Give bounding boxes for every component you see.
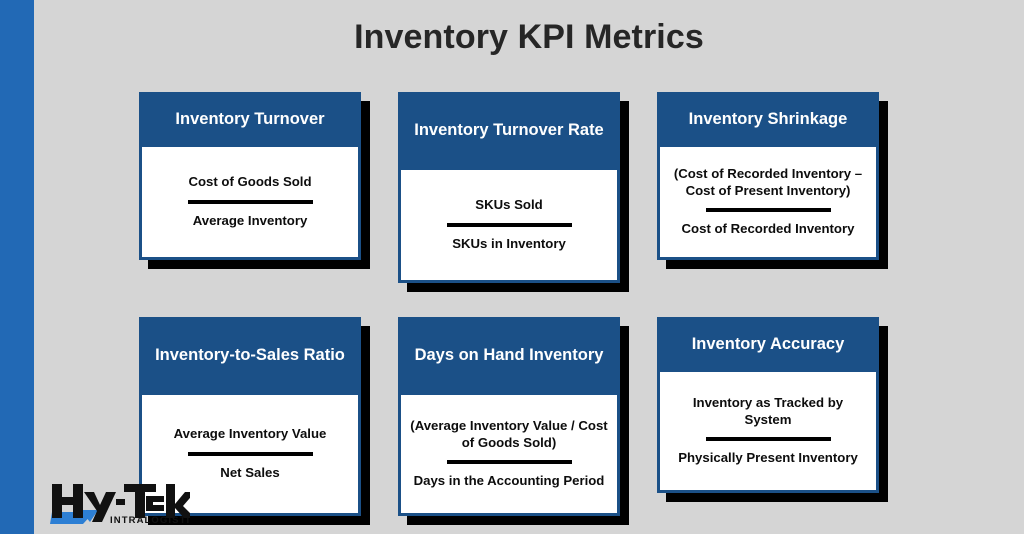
kpi-card-formula: Cost of Goods Sold Average Inventory — [142, 147, 358, 257]
kpi-card-cell-3: Inventory Shrinkage (Cost of Recorded In… — [657, 92, 879, 283]
kpi-card-title: Days on Hand Inventory — [398, 317, 620, 395]
formula-numerator: Average Inventory Value — [150, 425, 350, 443]
kpi-card-formula: (Average Inventory Value / Cost of Goods… — [401, 395, 617, 513]
kpi-card-inventory-accuracy[interactable]: Inventory Accuracy Inventory as Tracked … — [657, 317, 879, 493]
kpi-card-row-1: Inventory Turnover Cost of Goods Sold Av… — [139, 92, 901, 283]
kpi-card-inventory-turnover-rate[interactable]: Inventory Turnover Rate SKUs Sold SKUs i… — [398, 92, 620, 283]
formula-denominator: Average Inventory — [150, 212, 350, 230]
kpi-card-formula: (Cost of Recorded Inventory – Cost of Pr… — [660, 147, 876, 257]
kpi-card-cell-6: Inventory Accuracy Inventory as Tracked … — [657, 317, 879, 516]
kpi-card-days-on-hand-inventory[interactable]: Days on Hand Inventory (Average Inventor… — [398, 317, 620, 516]
formula-divider-bar — [706, 437, 831, 441]
kpi-card-title: Inventory-to-Sales Ratio — [139, 317, 361, 395]
formula-denominator: Physically Present Inventory — [668, 449, 868, 466]
formula-divider-bar — [188, 200, 313, 204]
formula-numerator: (Cost of Recorded Inventory – Cost of Pr… — [668, 165, 868, 199]
formula-divider-bar — [447, 460, 572, 464]
kpi-card-cell-5: Days on Hand Inventory (Average Inventor… — [398, 317, 620, 516]
formula-divider-bar — [447, 223, 572, 227]
formula-numerator: Inventory as Tracked by System — [668, 394, 868, 428]
formula-denominator: Days in the Accounting Period — [409, 472, 609, 489]
kpi-card-grid: Inventory Turnover Cost of Goods Sold Av… — [139, 92, 901, 516]
kpi-card-title: Inventory Turnover Rate — [398, 92, 620, 170]
kpi-card-inventory-shrinkage[interactable]: Inventory Shrinkage (Cost of Recorded In… — [657, 92, 879, 260]
formula-denominator: SKUs in Inventory — [409, 235, 609, 253]
left-accent-stripe — [0, 0, 34, 534]
logo-tagline: INTRALOGISTICS — [110, 515, 190, 526]
hytek-logo-graphic: INTRALOGISTICS — [50, 478, 190, 526]
kpi-card-row-2: Inventory-to-Sales Ratio Average Invento… — [139, 317, 901, 516]
slide-canvas: Inventory KPI Metrics Inventory Turnover… — [0, 0, 1024, 534]
formula-denominator: Cost of Recorded Inventory — [668, 220, 868, 237]
page-title: Inventory KPI Metrics — [34, 18, 1024, 57]
kpi-card-title: Inventory Turnover — [139, 92, 361, 147]
formula-numerator: SKUs Sold — [409, 196, 609, 214]
kpi-card-formula: Inventory as Tracked by System Physicall… — [660, 372, 876, 490]
formula-divider-bar — [706, 208, 831, 212]
kpi-card-inventory-turnover[interactable]: Inventory Turnover Cost of Goods Sold Av… — [139, 92, 361, 260]
kpi-card-cell-2: Inventory Turnover Rate SKUs Sold SKUs i… — [398, 92, 620, 283]
kpi-card-title: Inventory Shrinkage — [657, 92, 879, 147]
formula-numerator: (Average Inventory Value / Cost of Goods… — [409, 417, 609, 451]
kpi-card-cell-1: Inventory Turnover Cost of Goods Sold Av… — [139, 92, 361, 283]
kpi-card-formula: SKUs Sold SKUs in Inventory — [401, 170, 617, 280]
kpi-card-title: Inventory Accuracy — [657, 317, 879, 372]
formula-divider-bar — [188, 452, 313, 456]
hytek-logo[interactable]: INTRALOGISTICS — [50, 478, 190, 526]
formula-numerator: Cost of Goods Sold — [150, 173, 350, 191]
